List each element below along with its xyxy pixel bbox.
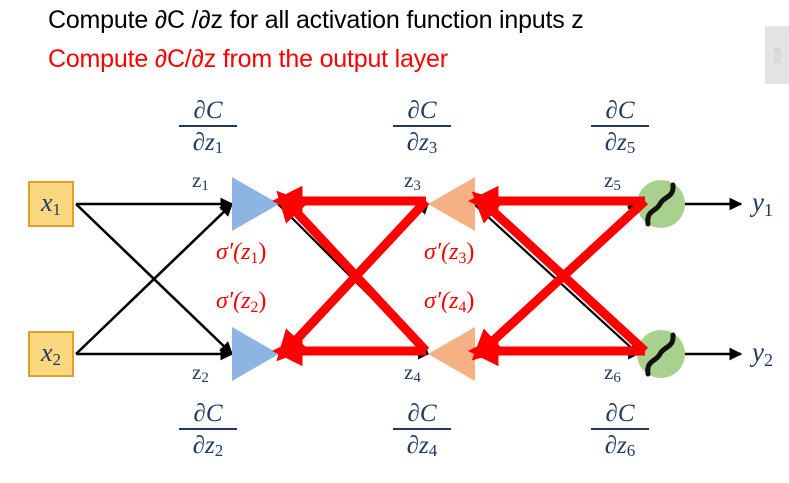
backprop-arrow-layer — [0, 0, 789, 483]
backprop-arrows-output-to-layer2 — [482, 201, 645, 351]
backprop-arrows-layer2-to-layer1 — [286, 201, 426, 351]
slide-canvas: Compute ∂C /∂z for all activation functi… — [0, 0, 789, 483]
